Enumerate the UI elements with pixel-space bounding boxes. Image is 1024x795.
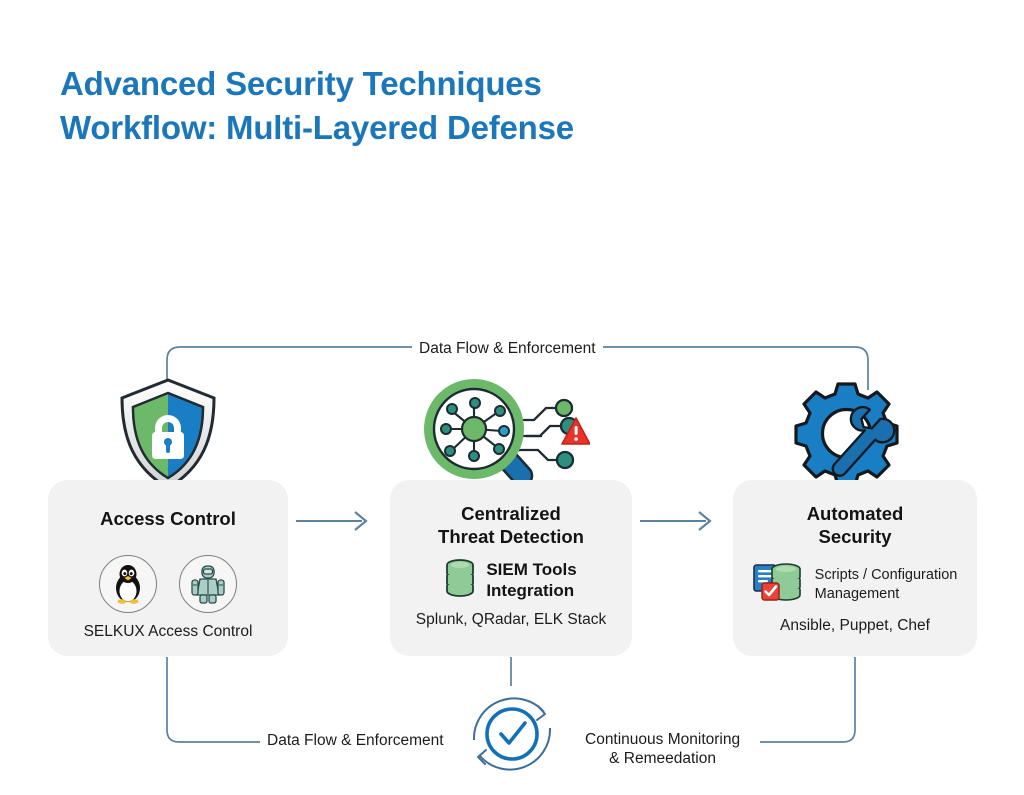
siem-subtitle: SIEM Tools Integration xyxy=(486,560,576,601)
badge-row-access-control xyxy=(48,555,288,613)
arrow-access-to-threat xyxy=(296,512,366,530)
flow-label-bottom-right: Continuous Monitoring & Remeedation xyxy=(578,731,747,769)
siem-row: SIEM Tools Integration xyxy=(390,559,632,602)
card-title-access-control: Access Control xyxy=(48,508,288,531)
shield-lock-icon xyxy=(116,376,220,497)
arrow-threat-to-automated xyxy=(640,512,710,530)
scripts-subtitle: Scripts / Configuration Management xyxy=(815,566,958,603)
card-title-automated-security: Automated Security xyxy=(733,503,977,548)
armored-figure-icon xyxy=(179,555,237,613)
card-title-threat-detection: Centralized Threat Detection xyxy=(390,503,632,548)
card-caption-access-control: SELKUX Access Control xyxy=(48,622,288,641)
gear-wrench-icon xyxy=(786,380,912,493)
linux-penguin-icon xyxy=(99,555,157,613)
scripts-row: Scripts / Configuration Management xyxy=(733,561,977,608)
magnifier-network-alert-icon xyxy=(422,378,590,491)
tools-line-automated-security: Ansible, Puppet, Chef xyxy=(733,617,977,635)
bottom-left-connector xyxy=(167,657,262,742)
flow-label-top: Data Flow & Enforcement xyxy=(412,340,603,359)
database-stack-icon xyxy=(445,559,475,602)
flow-label-bottom-left: Data Flow & Enforcement xyxy=(260,732,451,751)
card-threat-detection[interactable]: Centralized Threat Detection SIEM Tools … xyxy=(390,480,632,656)
cycle-check-icon xyxy=(456,678,568,795)
card-access-control[interactable]: Access Control xyxy=(48,480,288,656)
document-database-check-icon xyxy=(753,561,803,608)
bottom-right-connector xyxy=(760,657,855,742)
card-automated-security[interactable]: Automated Security xyxy=(733,480,977,656)
tools-line-threat-detection: Splunk, QRadar, ELK Stack xyxy=(390,611,632,629)
